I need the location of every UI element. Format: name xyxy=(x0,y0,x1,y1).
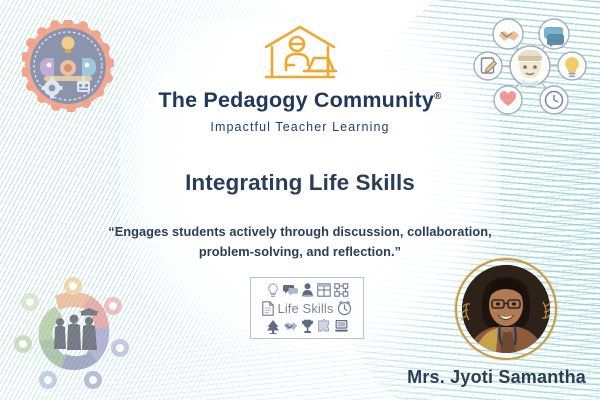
document-icon xyxy=(262,301,274,316)
brand-block: The Pedagogy Community® Impactful Teache… xyxy=(0,22,600,134)
person-presenting-icon xyxy=(301,283,314,298)
puzzle-icon xyxy=(317,319,331,333)
gold-laurel-flourish-icon xyxy=(455,258,557,360)
life-skills-icon-row-bottom xyxy=(266,318,349,335)
presenter-portrait xyxy=(455,258,557,360)
life-skills-card: Life Skills xyxy=(250,277,364,339)
network-grid-icon xyxy=(334,283,349,297)
brand-name-text: The Pedagogy Community xyxy=(158,88,434,112)
handshake-icon xyxy=(283,320,298,333)
presenter-name: Mrs. Jyoti Samantha xyxy=(407,367,586,388)
speech-bubbles-icon xyxy=(283,283,298,297)
life-skills-arrow-wheel xyxy=(10,268,136,396)
quote-line-1: “Engages students actively through discu… xyxy=(85,222,515,242)
life-skills-label: Life Skills xyxy=(277,301,333,316)
laptop-icon xyxy=(334,319,349,333)
alarm-clock-icon xyxy=(337,300,352,316)
quote-text: “Engages students actively through discu… xyxy=(85,222,515,263)
trophy-icon xyxy=(301,319,314,334)
life-skills-label-row: Life Skills xyxy=(262,300,351,317)
tree-icon xyxy=(266,319,280,334)
house-with-teacher-at-laptop-icon xyxy=(256,22,344,84)
poster-canvas: The Pedagogy Community® Impactful Teache… xyxy=(0,0,600,400)
brand-name: The Pedagogy Community® xyxy=(0,90,600,112)
life-skills-icon-row-top xyxy=(266,282,349,299)
registered-trademark-symbol: ® xyxy=(434,91,442,102)
page-title: Integrating Life Skills xyxy=(60,170,540,196)
lightbulb-icon xyxy=(266,283,280,298)
grid-window-icon xyxy=(317,283,331,297)
brand-tagline: Impactful Teacher Learning xyxy=(0,120,600,134)
quote-line-2: problem-solving, and reflection.” xyxy=(85,242,515,262)
